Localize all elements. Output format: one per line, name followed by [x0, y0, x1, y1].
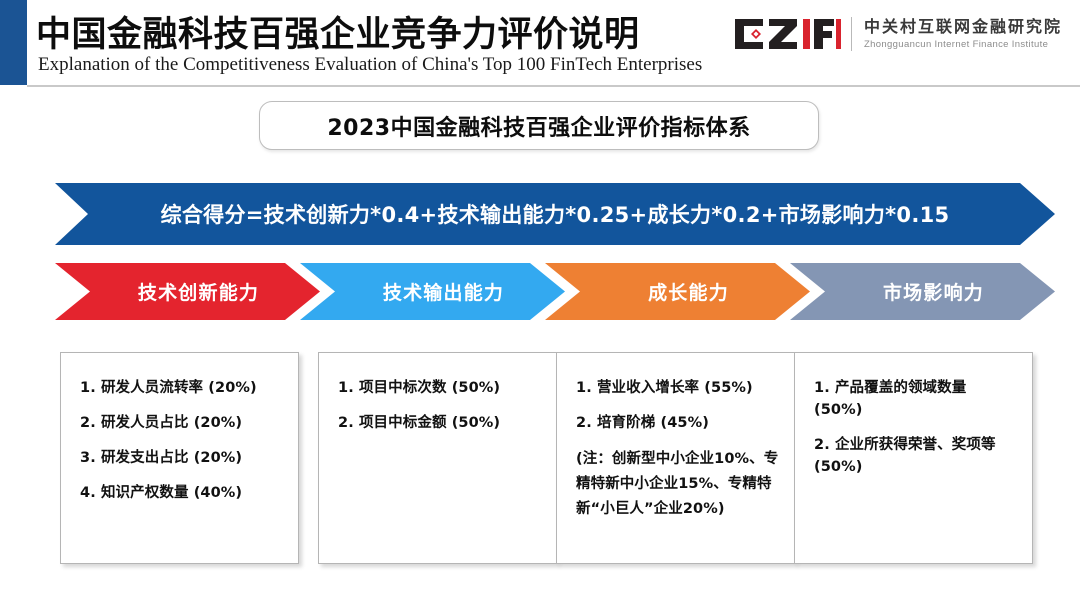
logo-name-chinese: 中关村互联网金融研究院 [864, 18, 1062, 36]
indicator-card-technology-innovation: 1. 研发人员流转率 (20%) 2. 研发人员占比 (20%) 3. 研发支出… [60, 352, 299, 564]
score-formula-text: 综合得分=技术创新力*0.4+技术输出能力*0.25+成长力*0.2+市场影响力… [55, 183, 1055, 245]
indicator-card-technology-output: 1. 项目中标次数 (50%) 2. 项目中标金额 (50%) [318, 352, 557, 564]
dimension-chevron-technology-output[interactable]: 技术输出能力 [300, 263, 565, 320]
indicator-item: 3. 研发支出占比 (20%) [80, 447, 285, 469]
evaluation-system-title-text: 2023中国金融科技百强企业评价指标体系 [327, 110, 750, 142]
czifi-logo-icon [733, 17, 841, 51]
dimension-chevron-market-influence[interactable]: 市场影响力 [790, 263, 1055, 320]
indicator-card-growth: 1. 营业收入增长率 (55%) 2. 培育阶梯 (45%) (注：创新型中小企… [556, 352, 795, 564]
indicator-cards-row: 1. 研发人员流转率 (20%) 2. 研发人员占比 (20%) 3. 研发支出… [0, 352, 1080, 567]
institute-logo: 中关村互联网金融研究院 Zhongguancun Internet Financ… [733, 11, 1062, 57]
indicator-item: 2. 研发人员占比 (20%) [80, 412, 285, 434]
evaluation-system-title-box: 2023中国金融科技百强企业评价指标体系 [259, 101, 819, 150]
logo-name-english: Zhongguancun Internet Finance Institute [864, 39, 1062, 50]
dimension-label: 技术输出能力 [300, 263, 565, 320]
indicator-note: (注：创新型中小企业10%、专精特新中小企业15%、专精特新“小巨人”企业20%… [576, 447, 781, 522]
page-title-chinese: 中国金融科技百强企业竞争力评价说明 [36, 6, 640, 57]
indicator-item: 1. 产品覆盖的领域数量 (50%) [814, 377, 1019, 421]
indicator-item: 4. 知识产权数量 (40%) [80, 482, 285, 504]
dimension-label: 成长能力 [545, 263, 810, 320]
dimension-chevron-row: 技术创新能力 技术输出能力 成长能力 市场影响力 [55, 263, 1055, 320]
header-divider-rule [27, 85, 1080, 87]
page-subtitle-english: Explanation of the Competitiveness Evalu… [38, 54, 702, 76]
dimension-label: 市场影响力 [790, 263, 1055, 320]
slide-canvas: 中国金融科技百强企业竞争力评价说明 Explanation of the Com… [0, 0, 1080, 608]
dimension-chevron-technology-innovation[interactable]: 技术创新能力 [55, 263, 320, 320]
indicator-item: 2. 培育阶梯 (45%) [576, 412, 781, 434]
indicator-card-market-influence: 1. 产品覆盖的领域数量 (50%) 2. 企业所获得荣誉、奖项等 (50%) [794, 352, 1033, 564]
indicator-item: 1. 项目中标次数 (50%) [338, 377, 543, 399]
dimension-chevron-growth[interactable]: 成长能力 [545, 263, 810, 320]
logo-text-block: 中关村互联网金融研究院 Zhongguancun Internet Financ… [864, 18, 1062, 49]
dimension-label: 技术创新能力 [55, 263, 320, 320]
indicator-item: 1. 研发人员流转率 (20%) [80, 377, 285, 399]
score-formula-banner: 综合得分=技术创新力*0.4+技术输出能力*0.25+成长力*0.2+市场影响力… [55, 183, 1055, 245]
slide-header: 中国金融科技百强企业竞争力评价说明 Explanation of the Com… [0, 0, 1080, 88]
indicator-item: 2. 企业所获得荣誉、奖项等 (50%) [814, 434, 1019, 478]
logo-divider [851, 17, 852, 51]
indicator-item: 2. 项目中标金额 (50%) [338, 412, 543, 434]
indicator-item: 1. 营业收入增长率 (55%) [576, 377, 781, 399]
header-accent-bar [0, 0, 27, 85]
